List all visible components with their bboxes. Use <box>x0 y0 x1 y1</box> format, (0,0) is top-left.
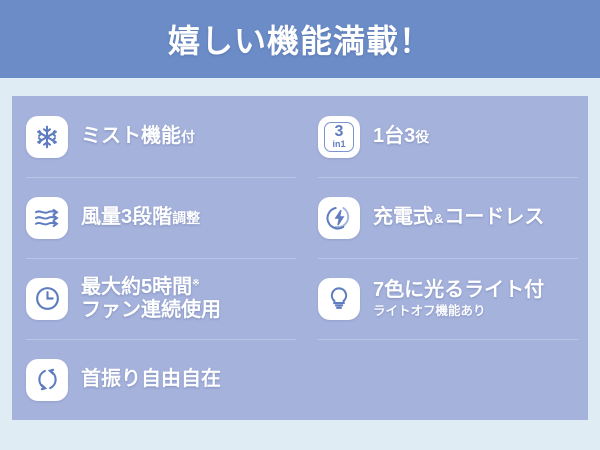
lightbulb-icon <box>326 285 352 312</box>
feature-column-right: 3 in1 1台3役 <box>300 96 588 420</box>
feature-labels: 充電式&コードレス <box>373 206 544 228</box>
feature-line1: 風量3段階調整 <box>81 206 200 228</box>
feature-labels: 首振り自由自在 <box>81 368 221 390</box>
oscillation-icon <box>34 366 61 393</box>
feature-line1-small: 役 <box>415 129 429 145</box>
three-in-one-badge-icon: 3 in1 <box>324 122 354 152</box>
page-title: 嬉しい機能満載！ <box>168 16 432 62</box>
badge-suffix: in1 <box>332 140 345 149</box>
feature-item-airflow: 風量3段階調整 <box>26 177 296 258</box>
charge-bolt-icon <box>326 204 353 231</box>
feature-labels: ミスト機能付 <box>81 125 195 147</box>
airflow-waves-icon-tile <box>26 197 68 239</box>
feature-item-oscillation: 首振り自由自在 <box>26 339 296 420</box>
three-in-one-badge-icon-tile: 3 in1 <box>318 116 360 158</box>
feature-line1-small: 付 <box>181 129 195 145</box>
footnote-marker: ※ <box>192 277 200 287</box>
ampersand: & <box>433 211 444 226</box>
feature-item-three-in-one: 3 in1 1台3役 <box>318 96 578 177</box>
feature-item-light: 7色に光るライト付 ライトオフ機能あり <box>318 258 578 339</box>
feature-line2: ライトオフ機能あり <box>373 304 544 318</box>
feature-item-empty-slot <box>318 339 578 420</box>
feature-item-rechargeable: 充電式&コードレス <box>318 177 578 258</box>
feature-line1: 1台3役 <box>373 125 429 147</box>
feature-line1: 7色に光るライト付 <box>373 279 544 301</box>
charge-bolt-icon-tile <box>318 197 360 239</box>
feature-line1: 首振り自由自在 <box>81 368 221 390</box>
oscillation-icon-tile <box>26 359 68 401</box>
lightbulb-icon-tile <box>318 278 360 320</box>
clock-icon-tile <box>26 278 68 320</box>
feature-column-left: ミスト機能付 <box>12 96 300 420</box>
badge-number: 3 <box>335 124 344 140</box>
feature-labels: 最大約5時間※ ファン連続使用 <box>81 276 221 321</box>
snowflake-icon-tile <box>26 116 68 158</box>
clock-icon <box>34 285 61 312</box>
feature-panel: ミスト機能付 <box>12 96 588 420</box>
feature-labels: 風量3段階調整 <box>81 206 200 228</box>
feature-item-mist: ミスト機能付 <box>26 96 296 177</box>
feature-line1: 充電式&コードレス <box>373 206 544 228</box>
feature-item-runtime: 最大約5時間※ ファン連続使用 <box>26 258 296 339</box>
feature-line2: ファン連続使用 <box>81 299 221 321</box>
infographic-stage: 嬉しい機能満載！ <box>0 0 600 450</box>
airflow-waves-icon <box>33 206 61 230</box>
feature-line1: ミスト機能付 <box>81 125 195 147</box>
feature-labels: 1台3役 <box>373 125 429 147</box>
feature-line1-small: 調整 <box>172 210 200 226</box>
header-banner: 嬉しい機能満載！ <box>0 0 600 78</box>
feature-labels: 7色に光るライト付 ライトオフ機能あり <box>373 279 544 317</box>
feature-grid: ミスト機能付 <box>12 96 588 420</box>
feature-line1: 最大約5時間※ <box>81 276 221 298</box>
snowflake-icon <box>34 124 60 150</box>
